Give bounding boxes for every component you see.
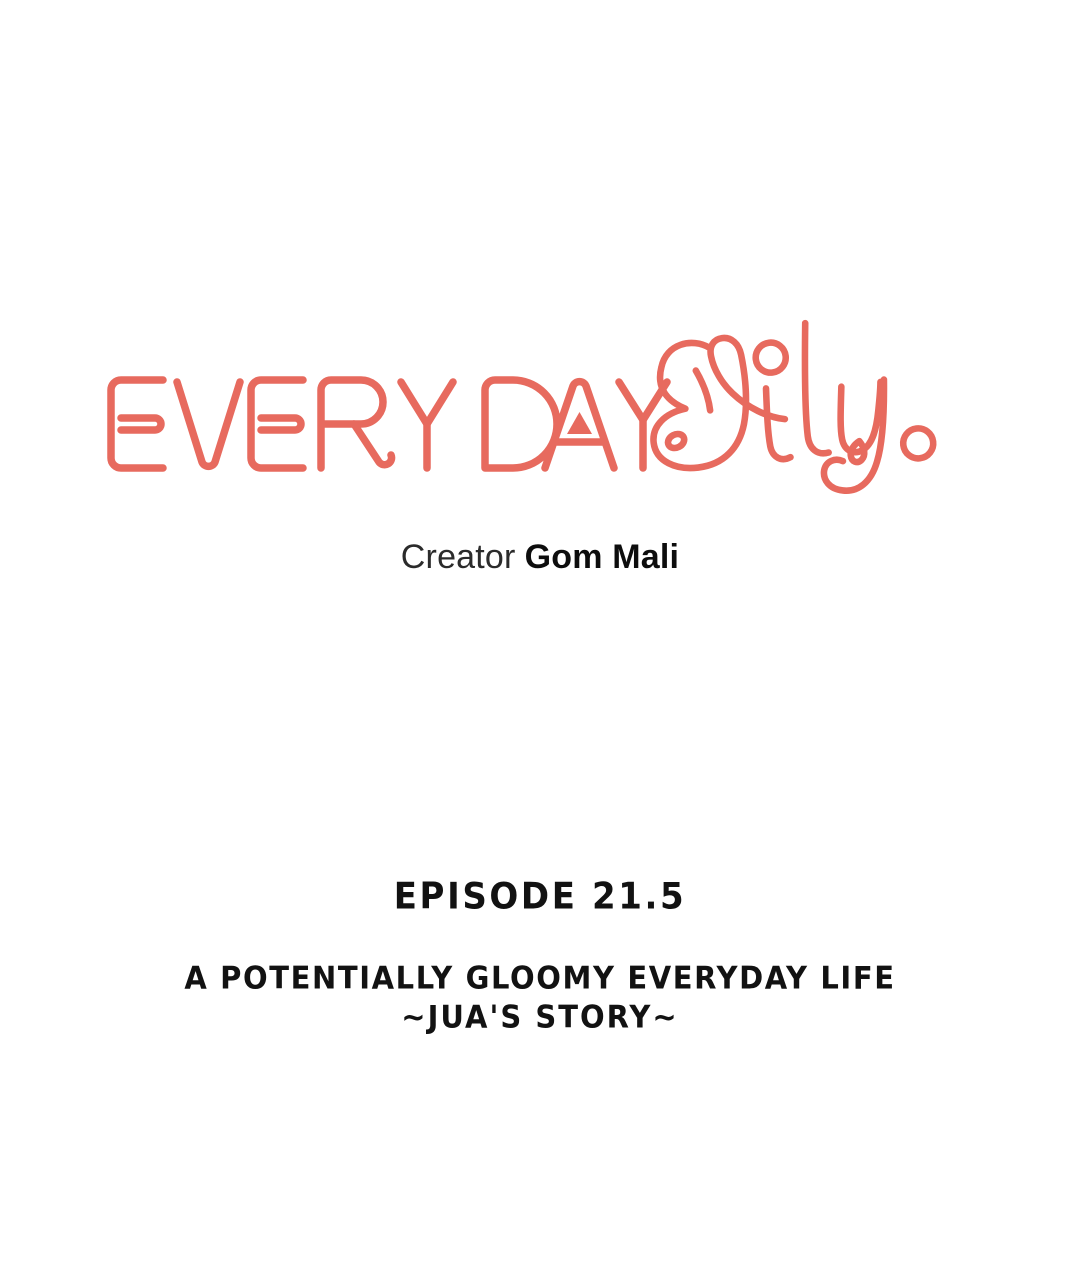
series-logo: [0, 300, 1080, 530]
creator-name: Gom Mali: [525, 538, 680, 576]
episode-number: EPISODE 21.5: [0, 875, 1080, 920]
logo-everyday-svg: [105, 374, 645, 474]
logo-lily-svg: [632, 316, 932, 506]
episode-subtitle: A POTENTIALLY GLOOMY EVERYDAY LIFE ~JUA'…: [0, 959, 1080, 1037]
logo-word-lily: [632, 316, 932, 506]
episode-subtitle-line-1: A POTENTIALLY GLOOMY EVERYDAY LIFE: [0, 959, 1080, 998]
episode-heading-block: EPISODE 21.5 A POTENTIALLY GLOOMY EVERYD…: [0, 876, 1080, 1035]
creator-label: Creator: [401, 538, 516, 576]
logo-word-everyday: [105, 374, 645, 474]
logo-period-dot: [901, 427, 934, 460]
title-card-page: CreatorGom Mali EPISODE 21.5 A POTENTIAL…: [0, 0, 1080, 1266]
episode-subtitle-line-2: ~JUA'S STORY~: [0, 998, 1080, 1037]
creator-credit: CreatorGom Mali: [0, 536, 1080, 578]
logo-a-triangle-accent: [567, 412, 592, 434]
